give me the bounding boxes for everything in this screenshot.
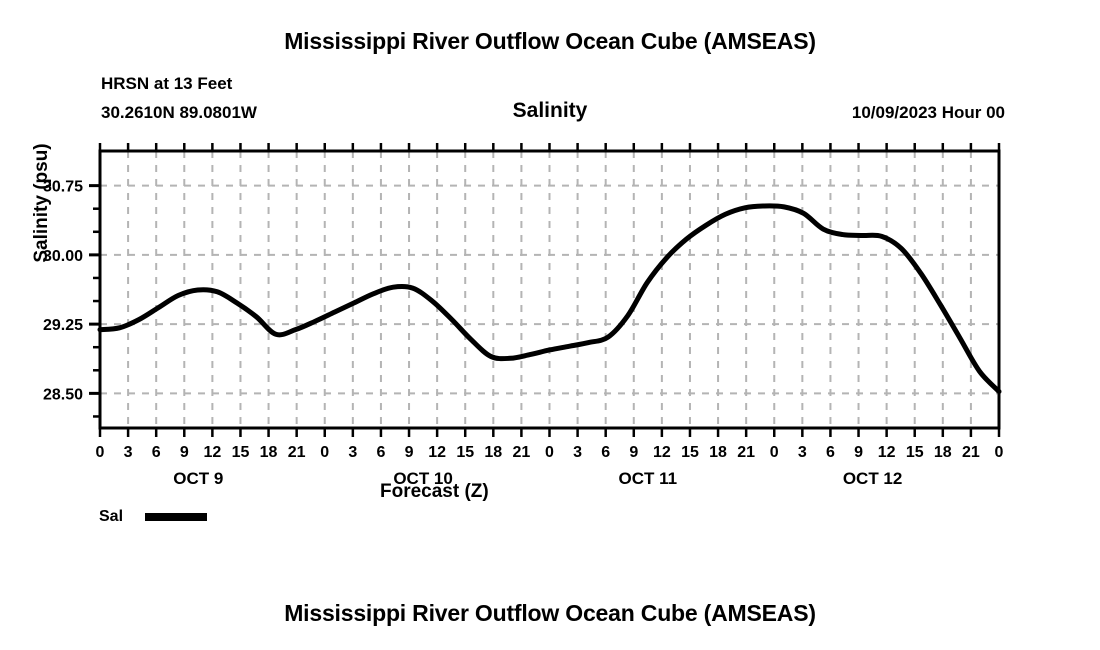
x-tick-label: 12 [653,444,671,461]
x-tick-label: 12 [878,444,896,461]
x-tick-label: 0 [545,444,554,461]
x-tick-label: 6 [152,444,161,461]
x-tick-label: 15 [681,444,699,461]
y-tick-label: 29.25 [43,317,83,334]
chart-page: Mississippi River Outflow Ocean Cube (AM… [0,0,1100,650]
chart-legend: Sal [99,508,207,526]
axis-frame [100,151,999,428]
grid-lines [100,151,999,428]
page-title-bottom: Mississippi River Outflow Ocean Cube (AM… [0,600,1100,627]
x-tick-label: 9 [405,444,414,461]
x-tick-label: 0 [770,444,779,461]
x-tick-label: 6 [601,444,610,461]
x-tick-label: 0 [995,444,1004,461]
x-tick-label: 18 [260,444,278,461]
y-axis-title: Salinity (psu) [31,103,53,303]
x-tick-label: 9 [180,444,189,461]
legend-swatch-sal [145,513,207,521]
x-tick-label: 18 [709,444,727,461]
x-tick-label: 15 [232,444,250,461]
x-tick-label: 15 [906,444,924,461]
x-tick-label: 18 [934,444,952,461]
x-axis-title: Forecast (Z) [380,481,489,503]
x-tick-label: 6 [826,444,835,461]
x-tick-label: 0 [96,444,105,461]
x-tick-label: 9 [629,444,638,461]
y-tick-label: 28.50 [43,386,83,403]
x-tick-label: 21 [288,444,306,461]
x-tick-label: 12 [203,444,221,461]
x-tick-label: 15 [456,444,474,461]
legend-label-sal: Sal [99,508,123,526]
x-day-label: OCT 12 [843,469,903,488]
x-tick-label: 9 [854,444,863,461]
x-tick-label: 3 [573,444,582,461]
plot-area: 30.7530.0029.2528.5003691215182103691215… [0,0,1100,650]
x-tick-label: 3 [348,444,357,461]
x-tick-label: 21 [962,444,980,461]
x-tick-label: 18 [484,444,502,461]
x-day-label: OCT 9 [173,469,223,488]
x-day-label: OCT 11 [619,469,678,488]
x-tick-label: 12 [428,444,446,461]
x-tick-label: 21 [737,444,755,461]
x-tick-label: 6 [376,444,385,461]
x-tick-label: 3 [798,444,807,461]
x-tick-label: 21 [513,444,531,461]
salinity-line-chart: 30.7530.0029.2528.5003691215182103691215… [0,0,1100,650]
x-tick-label: 3 [124,444,133,461]
x-tick-label: 0 [320,444,329,461]
